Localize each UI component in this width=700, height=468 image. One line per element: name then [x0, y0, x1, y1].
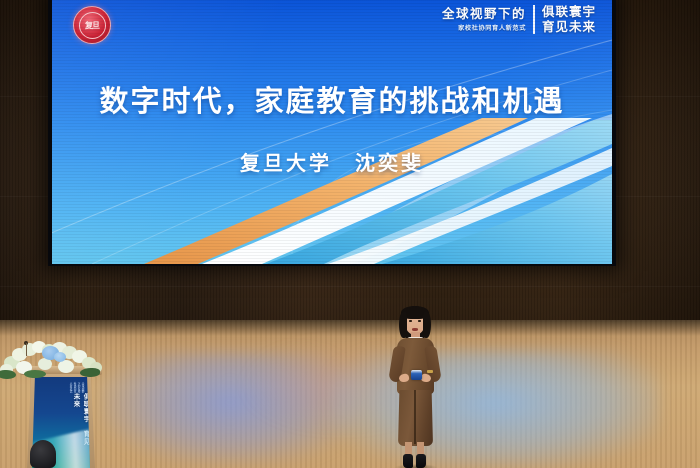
presentation-clicker-icon	[411, 370, 422, 380]
presenter-hair-side-right	[423, 312, 431, 338]
slide-header-left: 全球视野下的 家校社协同育人新范式	[442, 8, 533, 32]
blue-hydrangea	[54, 352, 66, 362]
stage-monitor-speaker	[30, 440, 56, 468]
slide-title: 数字时代，家庭教育的挑战和机遇	[52, 78, 612, 120]
presenter-hair-side-left	[399, 312, 407, 338]
presenter-wristwatch	[427, 370, 433, 373]
auditorium-scene: 复旦 全球视野下的 家校社协同育人新范式 俱联寰宇 育见未来 数字时代，家庭教育…	[0, 0, 700, 468]
slide-header-sub-line: 家校社协同育人新范式	[442, 23, 526, 32]
floor-shadow	[0, 320, 700, 336]
led-presentation-screen[interactable]: 复旦 全球视野下的 家校社协同育人新范式 俱联寰宇 育见未来 数字时代，家庭教育…	[52, 0, 612, 264]
slide-university-seal-icon: 复旦	[73, 6, 111, 44]
slide-header-right-line-2: 育见未来	[542, 20, 596, 35]
presenter-dress-seam	[414, 390, 416, 444]
presenter-figure	[383, 304, 447, 468]
slide-header-block: 全球视野下的 家校社协同育人新范式 俱联寰宇 育见未来	[442, 5, 596, 35]
presenter-eye-left	[409, 320, 412, 322]
presenter-dress-skirt	[398, 390, 433, 446]
presenter-boot-left	[403, 454, 413, 468]
presenter-mouth	[412, 328, 418, 331]
slide-subtitle: 复旦大学 沈奕斐	[52, 147, 612, 176]
floral-arrangement	[0, 340, 110, 380]
slide-seal-inner-text: 复旦	[79, 12, 106, 39]
microphone-stand	[26, 343, 27, 356]
slide-header-divider	[533, 5, 535, 34]
floor-light-reflection-right	[330, 350, 660, 468]
slide-swoosh-graphics	[52, 114, 612, 264]
presenter-boot-right	[416, 454, 426, 468]
presenter-eye-right	[418, 320, 421, 322]
slide-header-right-line-1: 俱联寰宇	[542, 5, 596, 20]
slide-header-right: 俱联寰宇 育见未来	[535, 5, 596, 35]
slide-header-main-line: 全球视野下的	[442, 8, 526, 21]
